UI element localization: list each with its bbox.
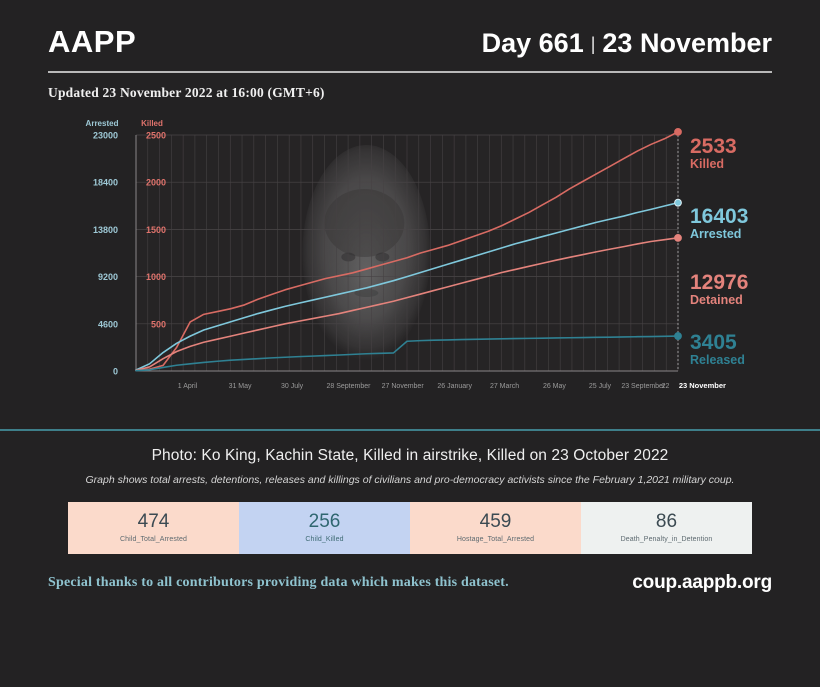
- timeseries-chart: ArrestedKilled04600500920010001380015001…: [44, 113, 776, 413]
- graph-note: Graph shows total arrests, detentions, r…: [30, 474, 790, 486]
- endpoint-value-released: 3405: [690, 331, 737, 354]
- stat-card: 256Child_Killed: [239, 502, 410, 554]
- y-tick-label-arrested: 0: [113, 367, 118, 377]
- day-separator: |: [591, 34, 596, 55]
- y-tick-label-arrested: 18400: [93, 178, 118, 188]
- stat-card-label: Hostage_Total_Arrested: [457, 536, 534, 543]
- day-label: Day 661: [482, 28, 584, 58]
- x-tick-label: 23 September: [621, 383, 666, 390]
- footer: Special thanks to all contributors provi…: [48, 572, 772, 594]
- y-tick-label-killed: 2500: [146, 131, 166, 141]
- series-endpoint-killed: [675, 128, 682, 135]
- thanks-text: Special thanks to all contributors provi…: [48, 575, 509, 591]
- y-tick-label-killed: 1000: [146, 272, 166, 282]
- x-tick-label: 27 November: [382, 383, 425, 390]
- header-row: AAPP Day 661|23 November: [48, 24, 772, 60]
- x-tick-label: 28 September: [326, 383, 371, 390]
- header-divider: [48, 71, 772, 73]
- photo-credit: Photo: Ko King, Kachin State, Killed in …: [30, 447, 790, 465]
- y-tick-label-killed: 500: [151, 319, 166, 329]
- x-tick-label: 27 March: [490, 383, 519, 390]
- stat-card-value: 86: [656, 512, 677, 532]
- x-tick-label: 26 January: [437, 383, 472, 390]
- stat-card: 474Child_Total_Arrested: [68, 502, 239, 554]
- caption-block: Photo: Ko King, Kachin State, Killed in …: [0, 431, 820, 486]
- stat-card: 459Hostage_Total_Arrested: [410, 502, 581, 554]
- y-tick-label-killed: 1500: [146, 225, 166, 235]
- endpoint-value-detained: 12976: [690, 271, 748, 294]
- infographic-page: AAPP Day 661|23 November Updated 23 Nove…: [0, 0, 820, 687]
- x-tick-label-current: 23 November: [679, 381, 726, 390]
- date-label: 23 November: [602, 28, 772, 58]
- x-tick-label: 31 May: [229, 383, 252, 390]
- endpoint-label-released: Released: [690, 353, 745, 367]
- y-tick-label-arrested: 9200: [98, 272, 118, 282]
- x-tick-label: 25 July: [589, 383, 612, 390]
- y-axis-title-killed: Killed: [141, 119, 163, 128]
- y-tick-label-arrested: 13800: [93, 225, 118, 235]
- stat-card-label: Death_Penalty_in_Detention: [621, 536, 713, 543]
- updated-timestamp: Updated 23 November 2022 at 16:00 (GMT+6…: [48, 85, 772, 101]
- x-tick-label: 30 July: [281, 383, 304, 390]
- x-tick-label: 22: [662, 383, 670, 390]
- y-tick-label-killed: 2000: [146, 178, 166, 188]
- endpoint-value-arrested: 16403: [690, 205, 748, 228]
- stat-card-value: 459: [480, 512, 512, 532]
- endpoint-value-killed: 2533: [690, 135, 737, 158]
- endpoint-label-arrested: Arrested: [690, 227, 741, 241]
- brand-title: AAPP: [48, 24, 136, 60]
- endpoint-label-killed: Killed: [690, 157, 724, 171]
- x-tick-label: 26 May: [543, 383, 566, 390]
- website-url[interactable]: coup.aappb.org: [632, 572, 772, 594]
- day-counter: Day 661|23 November: [482, 28, 772, 59]
- stat-card-row: 474Child_Total_Arrested256Child_Killed45…: [68, 502, 752, 554]
- series-endpoint-detained: [675, 234, 682, 241]
- stat-card: 86Death_Penalty_in_Detention: [581, 502, 752, 554]
- y-axis-title-arrested: Arrested: [86, 119, 119, 128]
- stat-card-label: Child_Killed: [305, 536, 343, 543]
- stat-card-value: 474: [138, 512, 170, 532]
- x-tick-label: 1 April: [178, 383, 198, 390]
- series-endpoint-released: [675, 333, 682, 340]
- stat-card-label: Child_Total_Arrested: [120, 536, 187, 543]
- endpoint-label-detained: Detained: [690, 293, 743, 307]
- chart-container: ArrestedKilled04600500920010001380015001…: [44, 113, 776, 413]
- header: AAPP Day 661|23 November Updated 23 Nove…: [0, 0, 820, 101]
- stat-card-value: 256: [309, 512, 341, 532]
- y-tick-label-arrested: 4600: [98, 319, 118, 329]
- y-tick-label-arrested: 23000: [93, 131, 118, 141]
- portrait-watermark: [302, 145, 430, 361]
- series-endpoint-arrested: [675, 199, 682, 206]
